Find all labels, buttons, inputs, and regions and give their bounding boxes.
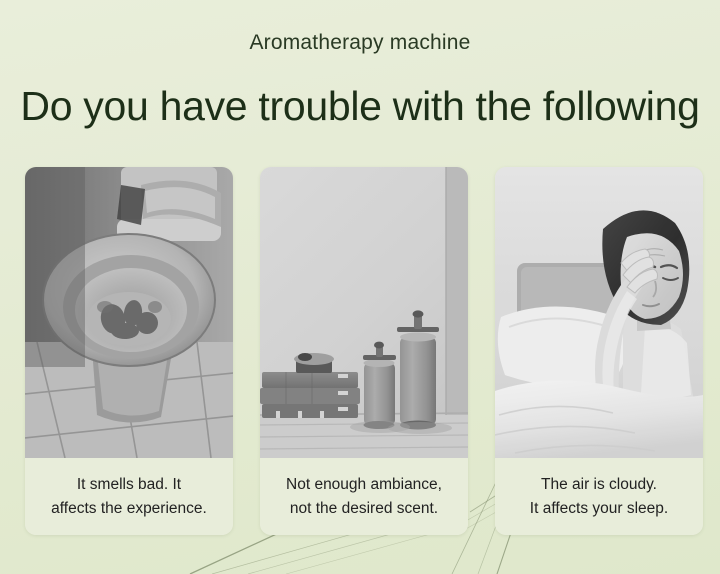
eyebrow-subtitle: Aromatherapy machine	[0, 32, 720, 53]
woman-in-bed-headache-photo	[495, 167, 703, 458]
problem-card-ambiance[interactable]: Not enough ambiance, not the desired sce…	[260, 167, 468, 535]
poster-header: Aromatherapy machine Do you have trouble…	[0, 0, 720, 127]
plain-interior-shelf-photo	[260, 167, 468, 458]
caption-line-1: Not enough ambiance,	[286, 477, 442, 493]
caption-line-2: not the desired scent.	[290, 501, 438, 517]
caption-line-2: affects the experience.	[51, 501, 207, 517]
problem-card-sleep[interactable]: The air is cloudy. It affects your sleep…	[495, 167, 703, 535]
caption-line-1: It smells bad. It	[77, 477, 181, 493]
problem-card-list: It smells bad. It affects the experience…	[25, 167, 703, 535]
card-caption: It smells bad. It affects the experience…	[25, 458, 233, 535]
caption-line-1: The air is cloudy.	[541, 477, 657, 493]
card-caption: Not enough ambiance, not the desired sce…	[260, 458, 468, 535]
card-caption: The air is cloudy. It affects your sleep…	[495, 458, 703, 535]
poster-root: Aromatherapy machine Do you have trouble…	[0, 0, 720, 574]
page-title: Do you have trouble with the following	[0, 86, 720, 127]
caption-line-2: It affects your sleep.	[530, 501, 668, 517]
dirty-toilet-photo	[25, 167, 233, 458]
problem-card-smell[interactable]: It smells bad. It affects the experience…	[25, 167, 233, 535]
